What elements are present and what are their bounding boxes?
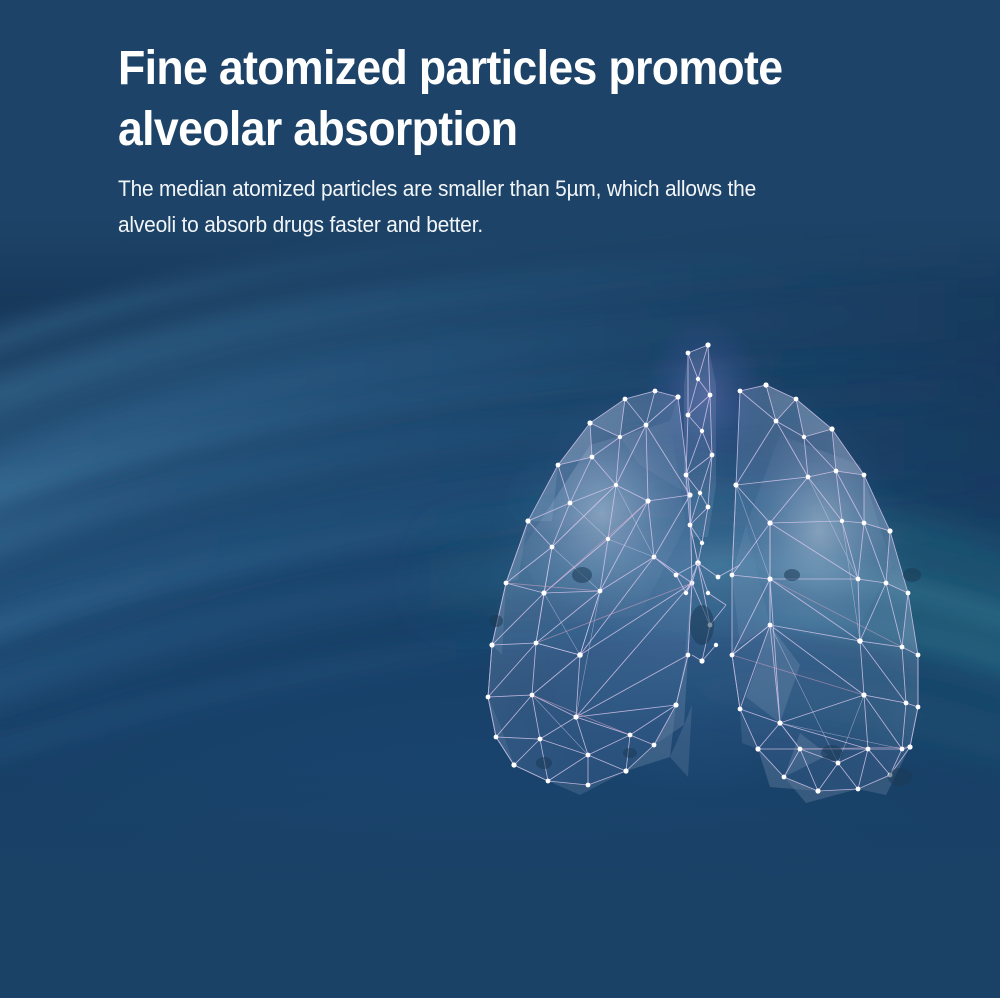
text-block: Fine atomized particles promote alveolar… xyxy=(118,38,918,243)
promo-banner: Fine atomized particles promote alveolar… xyxy=(0,0,1000,998)
page-title: Fine atomized particles promote alveolar… xyxy=(118,38,862,160)
right-lung xyxy=(730,382,921,803)
lungs-wireframe-illustration xyxy=(440,325,960,825)
page-subtitle: The median atomized particles are smalle… xyxy=(118,171,878,243)
left-lung xyxy=(486,389,695,795)
